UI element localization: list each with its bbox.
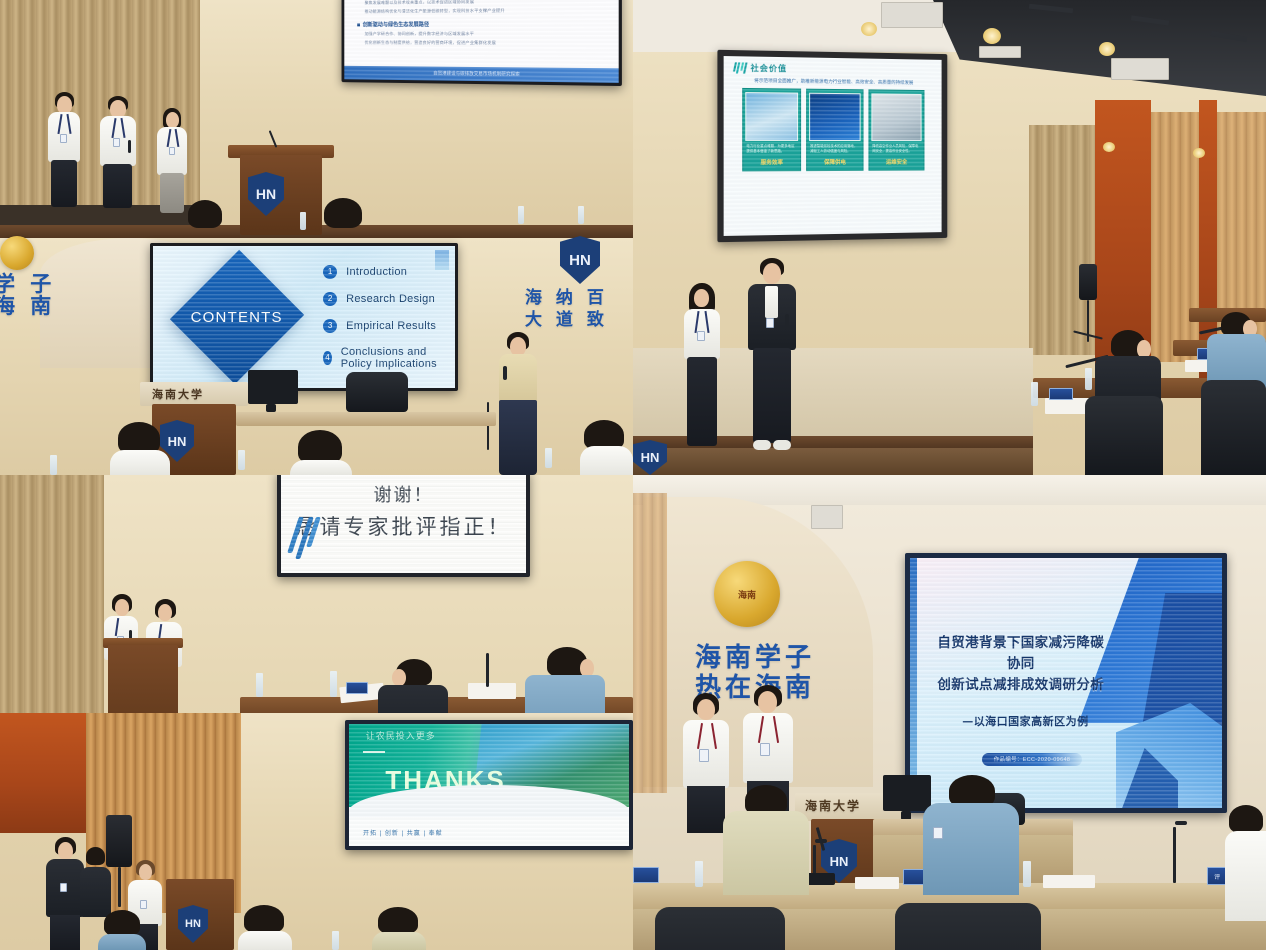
monitor [248,370,298,404]
slide-title: 社会价值 [751,63,788,75]
event-badge-icon [0,236,34,270]
contents-item: 4 Conclusions and Policy Implications [323,346,455,370]
photo-collage: 聚焦发展难题以及技术攻关重点，以技术促进区域协同发展 推动能源结构优化与清洁化生… [0,0,1266,950]
bullet-sub: 优化创新生态与制度供给，营造良好的营商环境，促进产业集群化发展 [365,40,608,47]
chair[interactable] [1201,380,1266,475]
chair[interactable] [655,907,785,950]
contents-diamond: CONTENTS [170,250,304,384]
contents-item: 3 Empirical Results [323,319,455,333]
panel-top-left: 聚焦发展难题以及技术攻关重点，以技术促进区域协同发展 推动能源结构优化与清洁化生… [0,0,633,475]
slide-subtitle: 将示范项目全面推广，助推新能源电力行业智能、高效安全、高质量的持续发展 [730,78,936,87]
audience-head [580,420,633,475]
bullet-sub: 聚焦发展难题以及技术攻关重点，以技术促进区域协同发展 [365,0,608,6]
contents-items: 1 Introduction 2 Research Design 3 Empir… [323,252,455,383]
slide-card: 降低高空作业人员风险，保障电网安全，提高作业安全性。 运维安全 [868,89,924,171]
lectern-label: 海南大学 [805,797,861,814]
nameplate-judge [633,867,659,883]
screen-thanks-cn-slide: 谢谢！ 恳请专家批评指正！ [277,475,530,577]
thanks-footer: 开拓 | 创新 | 共赢 | 奉献 [363,828,443,837]
decorative-stripes-icon [293,517,316,559]
presenter-2 [98,96,138,208]
contents-item: 2 Research Design [323,292,455,306]
presenter-with-mic [495,332,541,475]
slide-title-text: 自贸港背景下国家减污降碳协同 创新试点减排成效调研分析 [932,633,1110,696]
slide-work-code: 作品编号：ECC-2020-09648 [982,753,1083,766]
ac-vent [881,2,943,28]
panel-top-right: 社会价值 将示范项目全面推广，助推新能源电力行业智能、高效安全、高质量的持续发展… [633,0,1266,475]
screen-title-slide: 自贸港背景下国家减污降碳协同 创新试点减排成效调研分析 —以海口国家高新区为例 … [905,553,1227,813]
thanks-cn-head: 让农民投入更多 [366,729,436,742]
card-photo [745,92,798,141]
thanks-line-2: 恳请专家批评指正！ [296,511,512,541]
ceiling-lamp [983,28,1001,44]
ac-vent [1111,58,1169,80]
slide-accent-bars-icon [734,62,747,73]
audience-head [238,905,292,950]
audience-head [372,907,426,950]
bullet-sub: 推动能源结构优化与清洁化生产能源低碳转型，实现科技水平支撑产业提升 [365,7,608,15]
screen-contents-slide: CONTENTS 1 Introduction 2 Research Desig… [150,243,458,391]
slide-card: 电力行业重点难题，为更多地区提供基本借鉴了新思路。 服务效率 [742,88,801,172]
lectern-label: 海南大学 [152,386,204,402]
chair[interactable] [346,372,408,412]
pa-speaker [1079,264,1097,300]
presenter-male [745,258,801,450]
screen-social-value-slide: 社会价值 将示范项目全面推广，助推新能源电力行业智能、高效安全、高质量的持续发展… [717,50,947,242]
judge-front-3 [1225,805,1266,950]
ac-vent [811,505,843,529]
card-photo [809,93,860,141]
card-photo [871,93,921,141]
presenter-3 [155,108,189,210]
ceiling-lamp [861,22,877,36]
audience-head [110,422,170,475]
banner-line-2: 海 南 [0,290,55,320]
presenter-1 [46,92,82,207]
desk-microphone [1173,827,1176,883]
event-gold-badge-icon: 海南 [714,561,780,627]
slide-subtitle-text: —以海口国家高新区为例 [941,713,1110,729]
bullet-sub: 加强产学研合作、协同创新，提升数字经济与区域发展水平 [365,30,608,37]
screen-bullets-slide: 聚焦发展难题以及技术攻关重点，以技术促进区域协同发展 推动能源结构优化与清洁化生… [342,0,622,86]
chair[interactable] [1085,396,1163,475]
audience-head [290,430,352,475]
panel-bottom-left: 谢谢！ 恳请专家批评指正！ HN [0,475,633,950]
judge-front-1 [723,785,813,915]
judge-front-2 [923,775,1023,915]
slide-footer: 自贸港建设与碳排放交易市场机制研究探索 [344,66,618,83]
wall-text-line-2: 大 道 致 [525,305,608,330]
nameplate [1049,388,1073,400]
nameplate [346,682,368,694]
audience-head [182,200,230,240]
bullet-main: 创新驱动与绿色生态发展路径 [357,19,608,28]
slide-card: 推进智能巡检技术的应用落地，减轻工人劳动强度与风险。 保障供电 [806,89,863,172]
presenter-female [681,283,723,446]
thanks-line-1: 谢谢！ [374,481,434,507]
audience-head [98,910,146,950]
screen-thanks-en-slide: 让农民投入更多 THANKS 开拓 | 创新 | 共赢 | 奉献 [345,720,633,850]
panel-bottom-right: 海南 海南学子 热在海南 自贸港背景下国家减污降碳协同 创新试点减排成效调研分析… [633,475,1266,950]
ceiling-lamp [1099,42,1115,56]
audience-head [318,198,370,240]
chair[interactable] [895,903,1041,950]
